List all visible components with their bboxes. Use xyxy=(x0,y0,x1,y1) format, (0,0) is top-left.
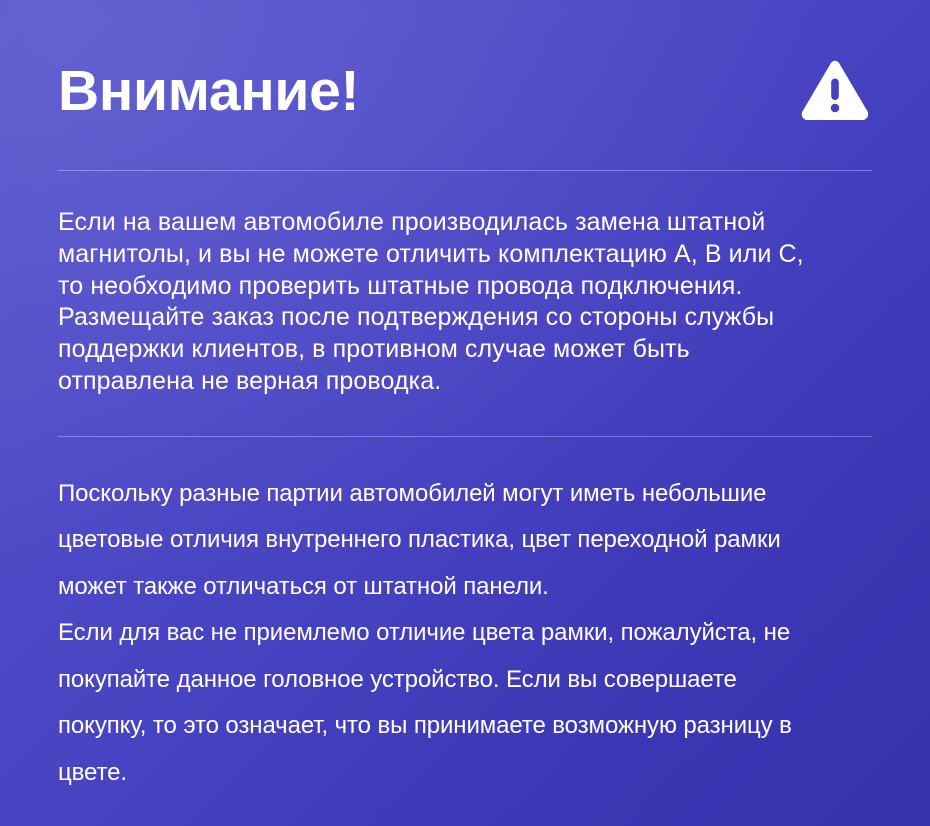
primary-line-3: то необходимо проверить штатные провода … xyxy=(58,271,872,303)
warning-triangle-icon xyxy=(800,59,870,123)
secondary-p2-line-4: цвете. xyxy=(58,750,872,797)
secondary-p2-line-3: покупку, то это означает, что вы принима… xyxy=(58,703,872,750)
page-title: Внимание! xyxy=(58,60,359,122)
banner-header: Внимание! xyxy=(58,0,872,170)
primary-warning-text: Если на вашем автомобиле производилась з… xyxy=(58,171,872,436)
page-title-text: Внимание! xyxy=(58,59,359,123)
secondary-p1-line-2: цветовые отличия внутреннего пластика, ц… xyxy=(58,517,872,564)
secondary-p1-line-3: может также отличаться от штатной панели… xyxy=(58,564,872,611)
primary-line-4: Размещайте заказ после подтверждения со … xyxy=(58,302,872,334)
secondary-p2-line-2: покупайте данное головное устройство. Ес… xyxy=(58,657,872,704)
primary-line-2: магнитолы, и вы не можете отличить компл… xyxy=(58,239,872,271)
primary-line-6: отправлена не верная проводка. xyxy=(58,366,872,398)
secondary-paragraph-one: Поскольку разные партии автомобилей могу… xyxy=(58,471,872,611)
primary-line-5: поддержки клиентов, в противном случае м… xyxy=(58,334,872,366)
secondary-paragraph-two: Если для вас не приемлемо отличие цвета … xyxy=(58,610,872,796)
primary-line-1: Если на вашем автомобиле производилась з… xyxy=(58,207,872,239)
secondary-p2-line-1: Если для вас не приемлемо отличие цвета … xyxy=(58,610,872,657)
secondary-p1-line-1: Поскольку разные партии автомобилей могу… xyxy=(58,471,872,518)
warning-notice-banner: Внимание! Если на вашем автомобиле произ… xyxy=(0,0,930,826)
banner-content: Внимание! Если на вашем автомобиле произ… xyxy=(0,0,930,796)
secondary-warning-text: Поскольку разные партии автомобилей могу… xyxy=(58,437,872,797)
